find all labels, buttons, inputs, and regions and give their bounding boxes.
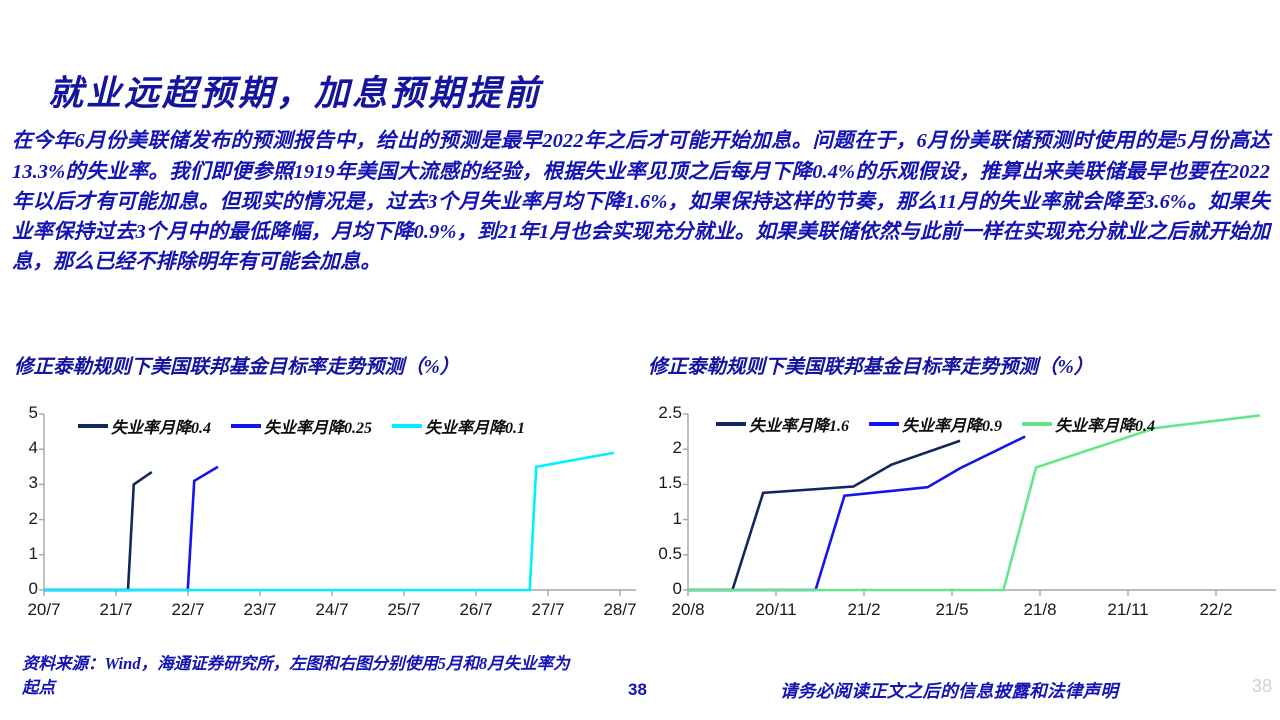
footer-disclaimer: 请务必阅读正文之后的信息披露和法律声明 bbox=[780, 678, 1118, 703]
y-tick-label: 0.5 bbox=[642, 544, 682, 564]
y-tick-label: 2 bbox=[2, 509, 38, 529]
legend-item[interactable]: 失业率月降0.4 bbox=[1022, 412, 1155, 436]
source-note: 资料来源：Wind，海通证券研究所，左图和右图分别使用5月和8月失业率为起点 bbox=[22, 652, 582, 700]
y-tick-label: 3 bbox=[2, 473, 38, 493]
legend-label: 失业率月降0.4 bbox=[1055, 412, 1155, 436]
legend-line-icon bbox=[716, 422, 746, 426]
y-tick-label: 1 bbox=[642, 509, 682, 529]
y-tick-label: 5 bbox=[2, 403, 38, 423]
x-tick-label: 21/5 bbox=[912, 600, 992, 620]
legend-label: 失业率月降0.25 bbox=[264, 414, 372, 438]
legend-line-icon bbox=[78, 424, 108, 428]
chart-right-legend: 失业率月降1.6失业率月降0.9失业率月降0.4 bbox=[716, 412, 1175, 436]
x-tick-label: 21/8 bbox=[1000, 600, 1080, 620]
x-tick-label: 27/7 bbox=[508, 600, 588, 620]
body-paragraph: 在今年6月份美联储发布的预测报告中，给出的预测是最早2022年之后才可能开始加息… bbox=[12, 126, 1270, 277]
legend-label: 失业率月降0.1 bbox=[425, 414, 525, 438]
y-tick-label: 2 bbox=[642, 438, 682, 458]
legend-label: 失业率月降0.9 bbox=[902, 412, 1002, 436]
y-tick-label: 4 bbox=[2, 438, 38, 458]
x-tick-label: 25/7 bbox=[364, 600, 444, 620]
x-tick-label: 20/7 bbox=[4, 600, 84, 620]
y-tick-label: 2.5 bbox=[642, 403, 682, 423]
x-tick-label: 24/7 bbox=[292, 600, 372, 620]
legend-item[interactable]: 失业率月降0.4 bbox=[78, 414, 211, 438]
y-tick-label: 1 bbox=[2, 544, 38, 564]
x-tick-label: 22/2 bbox=[1176, 600, 1256, 620]
legend-item[interactable]: 失业率月降1.6 bbox=[716, 412, 849, 436]
legend-line-icon bbox=[1022, 422, 1052, 426]
legend-line-icon bbox=[869, 422, 899, 426]
chart-title-left: 修正泰勒规则下美国联邦基金目标率走势预测（%） bbox=[14, 350, 459, 379]
x-tick-label: 26/7 bbox=[436, 600, 516, 620]
footer-ghost-number: 38 bbox=[1252, 676, 1272, 697]
legend-line-icon bbox=[392, 424, 422, 428]
chart-title-right: 修正泰勒规则下美国联邦基金目标率走势预测（%） bbox=[648, 350, 1093, 379]
legend-item[interactable]: 失业率月降0.9 bbox=[869, 412, 1002, 436]
legend-line-icon bbox=[231, 424, 261, 428]
legend-label: 失业率月降0.4 bbox=[111, 414, 211, 438]
y-tick-label: 0 bbox=[642, 579, 682, 599]
legend-item[interactable]: 失业率月降0.25 bbox=[231, 414, 372, 438]
y-tick-label: 0 bbox=[2, 579, 38, 599]
page-title: 就业远超预期，加息预期提前 bbox=[48, 65, 542, 116]
x-tick-label: 20/8 bbox=[648, 600, 728, 620]
y-tick-label: 1.5 bbox=[642, 473, 682, 493]
x-tick-label: 20/11 bbox=[736, 600, 816, 620]
page-number: 38 bbox=[628, 680, 647, 700]
legend-label: 失业率月降1.6 bbox=[749, 412, 849, 436]
chart-left-legend: 失业率月降0.4失业率月降0.25失业率月降0.1 bbox=[78, 414, 545, 438]
x-tick-label: 22/7 bbox=[148, 600, 228, 620]
legend-item[interactable]: 失业率月降0.1 bbox=[392, 414, 525, 438]
x-tick-label: 21/2 bbox=[824, 600, 904, 620]
x-tick-label: 21/11 bbox=[1088, 600, 1168, 620]
slide-root: 就业远超预期，加息预期提前 在今年6月份美联储发布的预测报告中，给出的预测是最早… bbox=[0, 0, 1280, 720]
x-tick-label: 23/7 bbox=[220, 600, 300, 620]
x-tick-label: 21/7 bbox=[76, 600, 156, 620]
